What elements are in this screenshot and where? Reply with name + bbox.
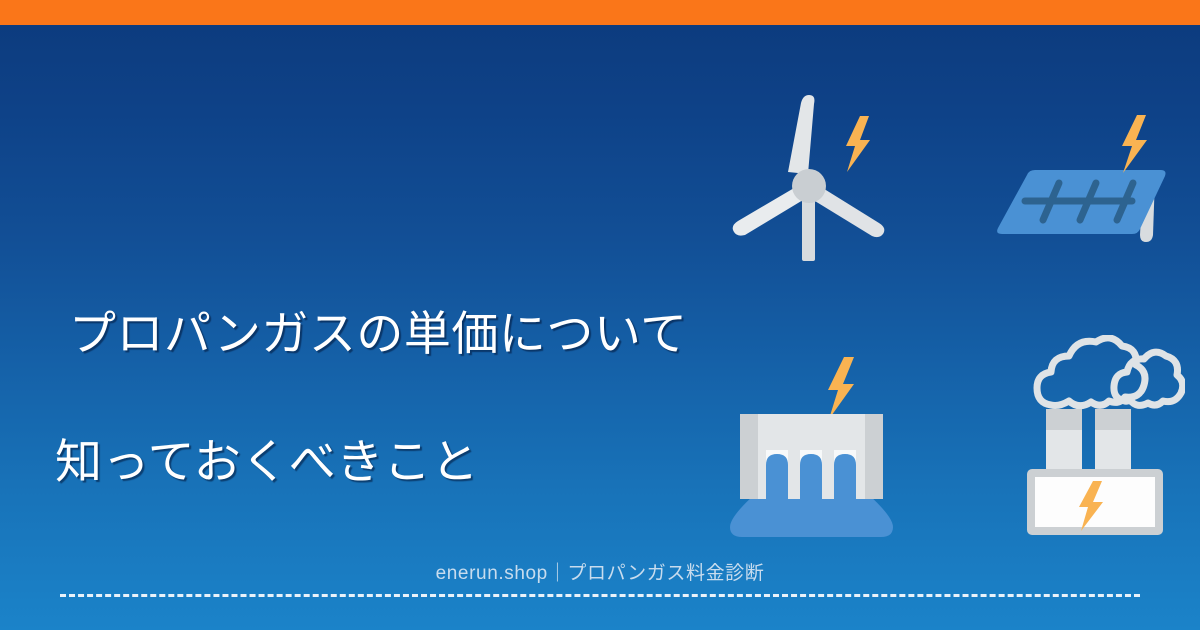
power-plant-icon (1005, 335, 1185, 550)
page-title-line-2: 知っておくべきこと (55, 430, 745, 494)
og-card: プロパンガスの単価について 知っておくべきこと (0, 0, 1200, 630)
page-title-line-1: プロパンガスの単価について (55, 302, 745, 366)
solar-panel-icon (985, 105, 1175, 260)
wind-turbine-icon (714, 82, 904, 272)
top-accent-bar (0, 0, 1200, 25)
footer: enerun.shop｜プロパンガス料金診断 (0, 550, 1200, 630)
hydro-dam-icon (714, 352, 909, 547)
page-title: プロパンガスの単価について 知っておくべきこと (55, 238, 745, 558)
footer-divider (60, 594, 1140, 597)
footer-brand-text: enerun.shop｜プロパンガス料金診断 (0, 558, 1200, 585)
